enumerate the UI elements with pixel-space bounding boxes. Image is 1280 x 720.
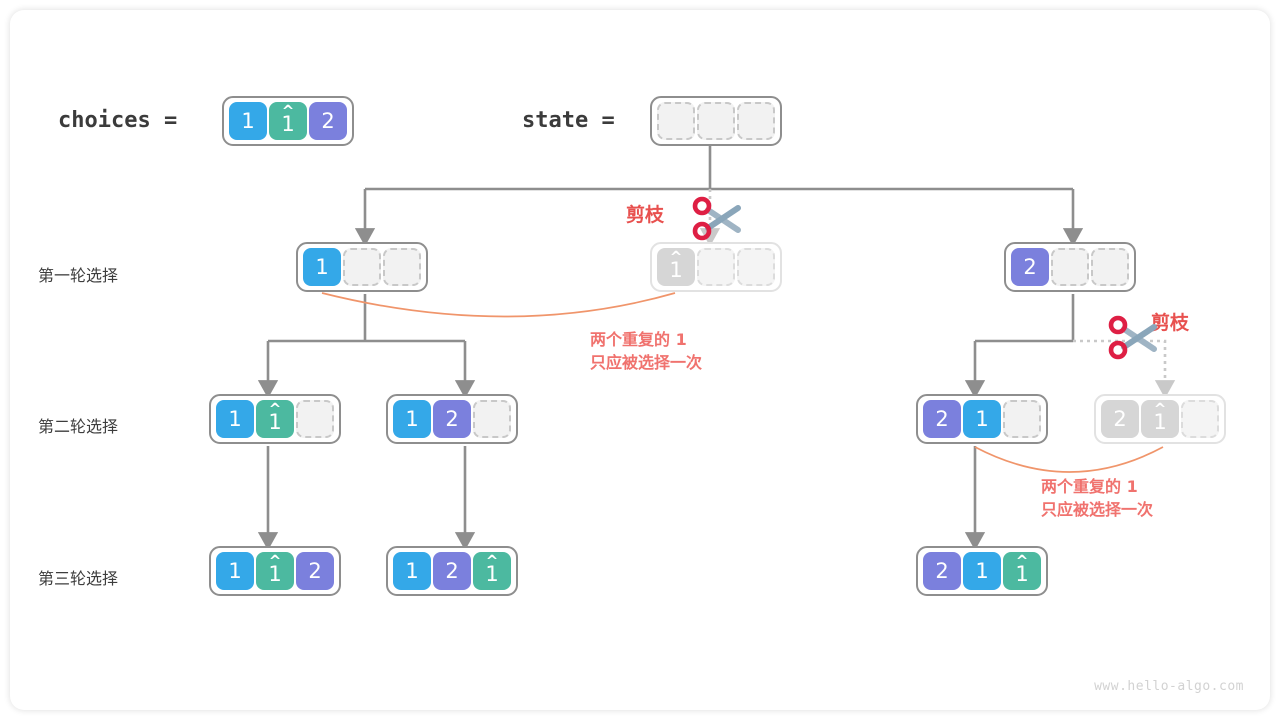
node-r1-right: 2 [1004,242,1136,292]
state-array [650,96,782,146]
node-r1-left: 1 [296,242,428,292]
cell: 1 [393,400,431,438]
cell: 1 [216,400,254,438]
row-label-round-1: 第一轮选择 [38,262,118,286]
cell: 1 [216,552,254,590]
node-r3-b: 1 2 ^ 1 [386,546,518,596]
cell: 1 [393,552,431,590]
cell-value: 1 [975,409,988,430]
cell: 2 [1011,248,1049,286]
cell-value: 2 [1023,257,1036,278]
cell: 1 [963,400,1001,438]
cell-empty [1051,248,1089,286]
cell-empty [296,400,334,438]
diagram-canvas: choices = 1 ^ 1 2 state = 第一轮选择 第二轮选择 第三… [10,10,1270,710]
cell: 2 [923,400,961,438]
cell: 2 [433,400,471,438]
hat-marker-icon: ^ [269,554,282,569]
hat-marker-icon: ^ [282,104,295,119]
cell-value: 2 [445,561,458,582]
cell-empty [343,248,381,286]
state-cell-1 [697,102,735,140]
note-duplicate-left: 两个重复的 1 只应被选择一次 [590,328,702,374]
cell-value: 1 [975,561,988,582]
cell: 2 [433,552,471,590]
note-duplicate-right: 两个重复的 1 只应被选择一次 [1041,475,1153,521]
cell-value: 2 [308,561,321,582]
cell-empty [1091,248,1129,286]
node-r2-d-pruned: 2 ^ 1 [1094,394,1226,444]
note-line-1: 两个重复的 1 [1041,475,1153,498]
cell-value: 2 [445,409,458,430]
scissors-icon-right [1104,315,1164,363]
choices-cell-1: ^ 1 [269,102,307,140]
cell-value: 2 [321,111,334,132]
hat-marker-icon: ^ [269,402,282,417]
state-label: state = [522,108,615,133]
cell: 1 [963,552,1001,590]
cell-value: 2 [1113,409,1126,430]
node-r2-b: 1 2 [386,394,518,444]
cell: ^ 1 [1141,400,1179,438]
hat-marker-icon: ^ [486,554,499,569]
node-r3-a: 1 ^ 1 2 [209,546,341,596]
choices-label: choices = [58,108,177,133]
cell-empty [737,248,775,286]
hat-marker-icon: ^ [670,250,683,265]
hat-marker-icon: ^ [1016,554,1029,569]
cell: ^ 1 [473,552,511,590]
cell-value: 1 [241,111,254,132]
cell: ^ 1 [256,552,294,590]
prune-label-top: 剪枝 [626,200,664,227]
cell-value: 1 [315,257,328,278]
cell: ^ 1 [657,248,695,286]
node-r1-mid-pruned: ^ 1 [650,242,782,292]
cell-value: 2 [935,561,948,582]
cell: 2 [296,552,334,590]
cell-empty [697,248,735,286]
state-cell-2 [737,102,775,140]
node-r2-a: 1 ^ 1 [209,394,341,444]
cell-value: 1 [228,561,241,582]
note-line-1: 两个重复的 1 [590,328,702,351]
cell: 1 [303,248,341,286]
note-line-2: 只应被选择一次 [1041,498,1153,521]
node-r2-c: 2 1 [916,394,1048,444]
row-label-round-3: 第三轮选择 [38,565,118,589]
cell-value: 1 [405,561,418,582]
cell-value: 2 [935,409,948,430]
node-r3-c: 2 1 ^ 1 [916,546,1048,596]
cell-value: 1 [228,409,241,430]
row-label-round-2: 第二轮选择 [38,413,118,437]
cell-empty [1181,400,1219,438]
cell: 2 [923,552,961,590]
state-cell-0 [657,102,695,140]
cell-value: 1 [405,409,418,430]
hat-marker-icon: ^ [1154,402,1167,417]
choices-cell-0: 1 [229,102,267,140]
cell: ^ 1 [1003,552,1041,590]
watermark: www.hello-algo.com [1094,679,1244,694]
cell-empty [473,400,511,438]
choices-cell-2: 2 [309,102,347,140]
cell: 2 [1101,400,1139,438]
cell: ^ 1 [256,400,294,438]
cell-empty [383,248,421,286]
cell-empty [1003,400,1041,438]
scissors-icon-top [688,196,748,244]
choices-array: 1 ^ 1 2 [222,96,354,146]
note-line-2: 只应被选择一次 [590,351,702,374]
